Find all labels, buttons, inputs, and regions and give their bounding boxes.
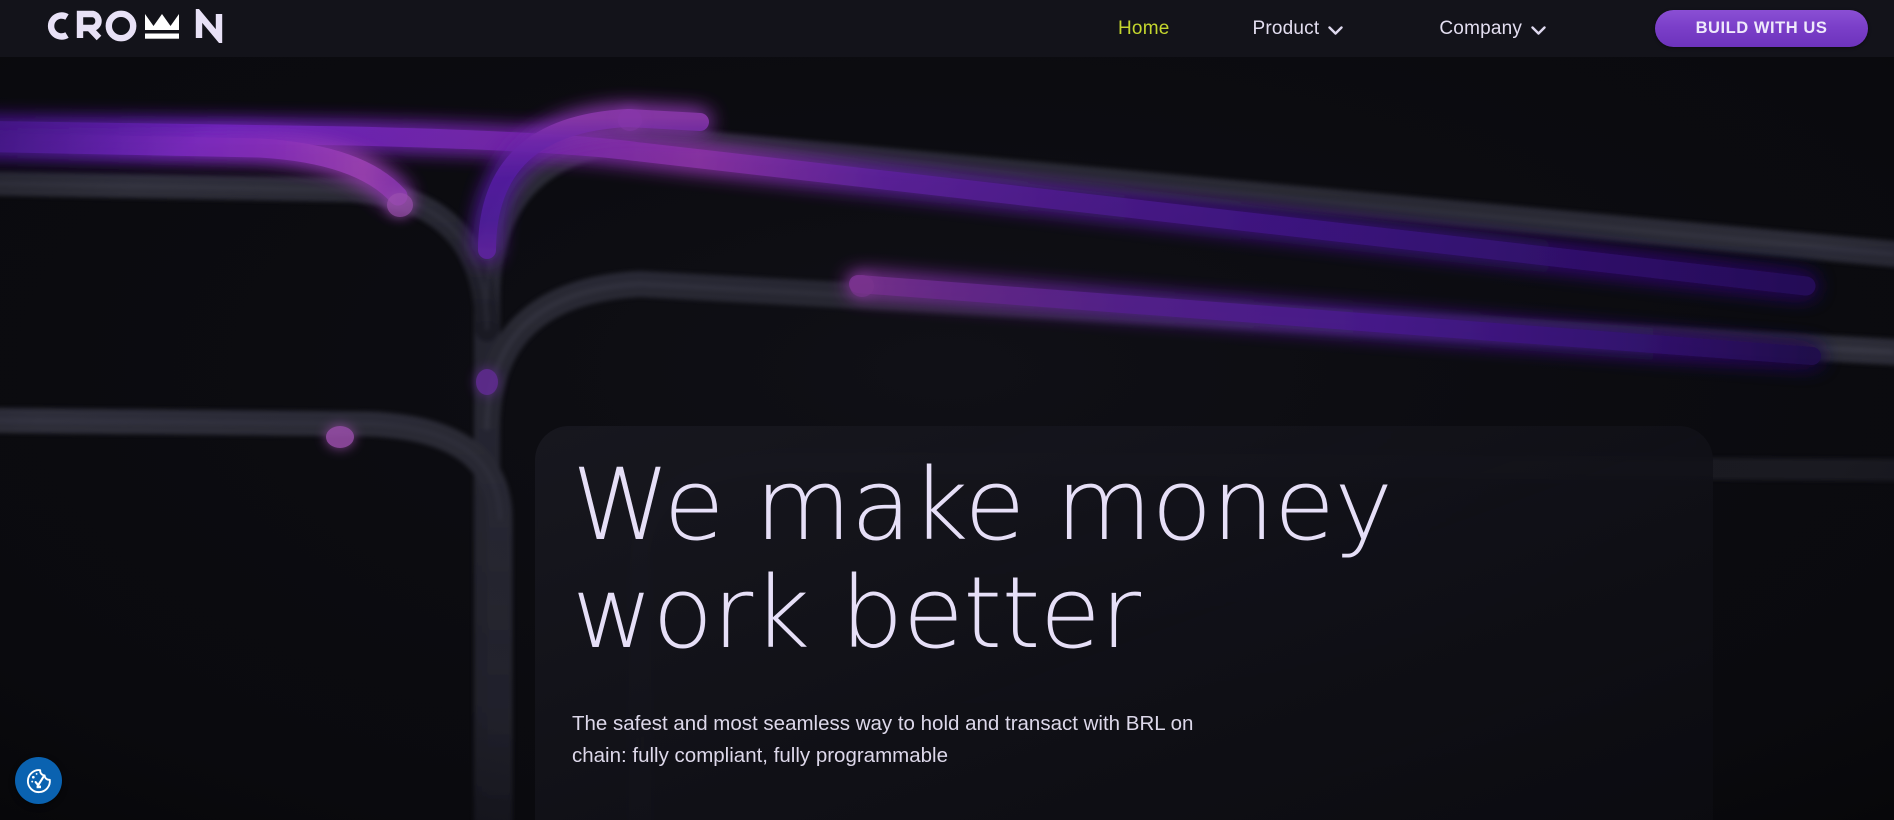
hero-subtitle: The safest and most seamless way to hold… [572, 708, 1372, 773]
crown-icon [145, 14, 179, 39]
nav-item-company-label: Company [1439, 18, 1522, 40]
brand-logo[interactable] [31, 6, 229, 46]
page-title: We make money work better [572, 452, 1672, 668]
nav-item-product[interactable]: Product [1252, 18, 1343, 40]
chevron-down-icon [1531, 26, 1546, 35]
page-root: We make money work better The safest and… [0, 0, 1894, 820]
chevron-down-icon [1328, 26, 1343, 35]
nav-item-product-label: Product [1252, 18, 1319, 40]
nav-item-company[interactable]: Company [1439, 18, 1546, 40]
hero-content: We make money work better The safest and… [572, 452, 1672, 773]
cookie-consent-button[interactable] [15, 757, 62, 804]
main-nav: Home Product Company [1118, 0, 1546, 57]
site-header: Home Product Company BUILD WITH US [0, 0, 1894, 57]
nav-item-home-label: Home [1118, 18, 1169, 40]
nav-item-home[interactable]: Home [1118, 18, 1169, 40]
crown-logo-icon [31, 9, 229, 43]
build-with-us-button[interactable]: BUILD WITH US [1655, 10, 1868, 47]
cookie-check-icon [24, 766, 54, 796]
